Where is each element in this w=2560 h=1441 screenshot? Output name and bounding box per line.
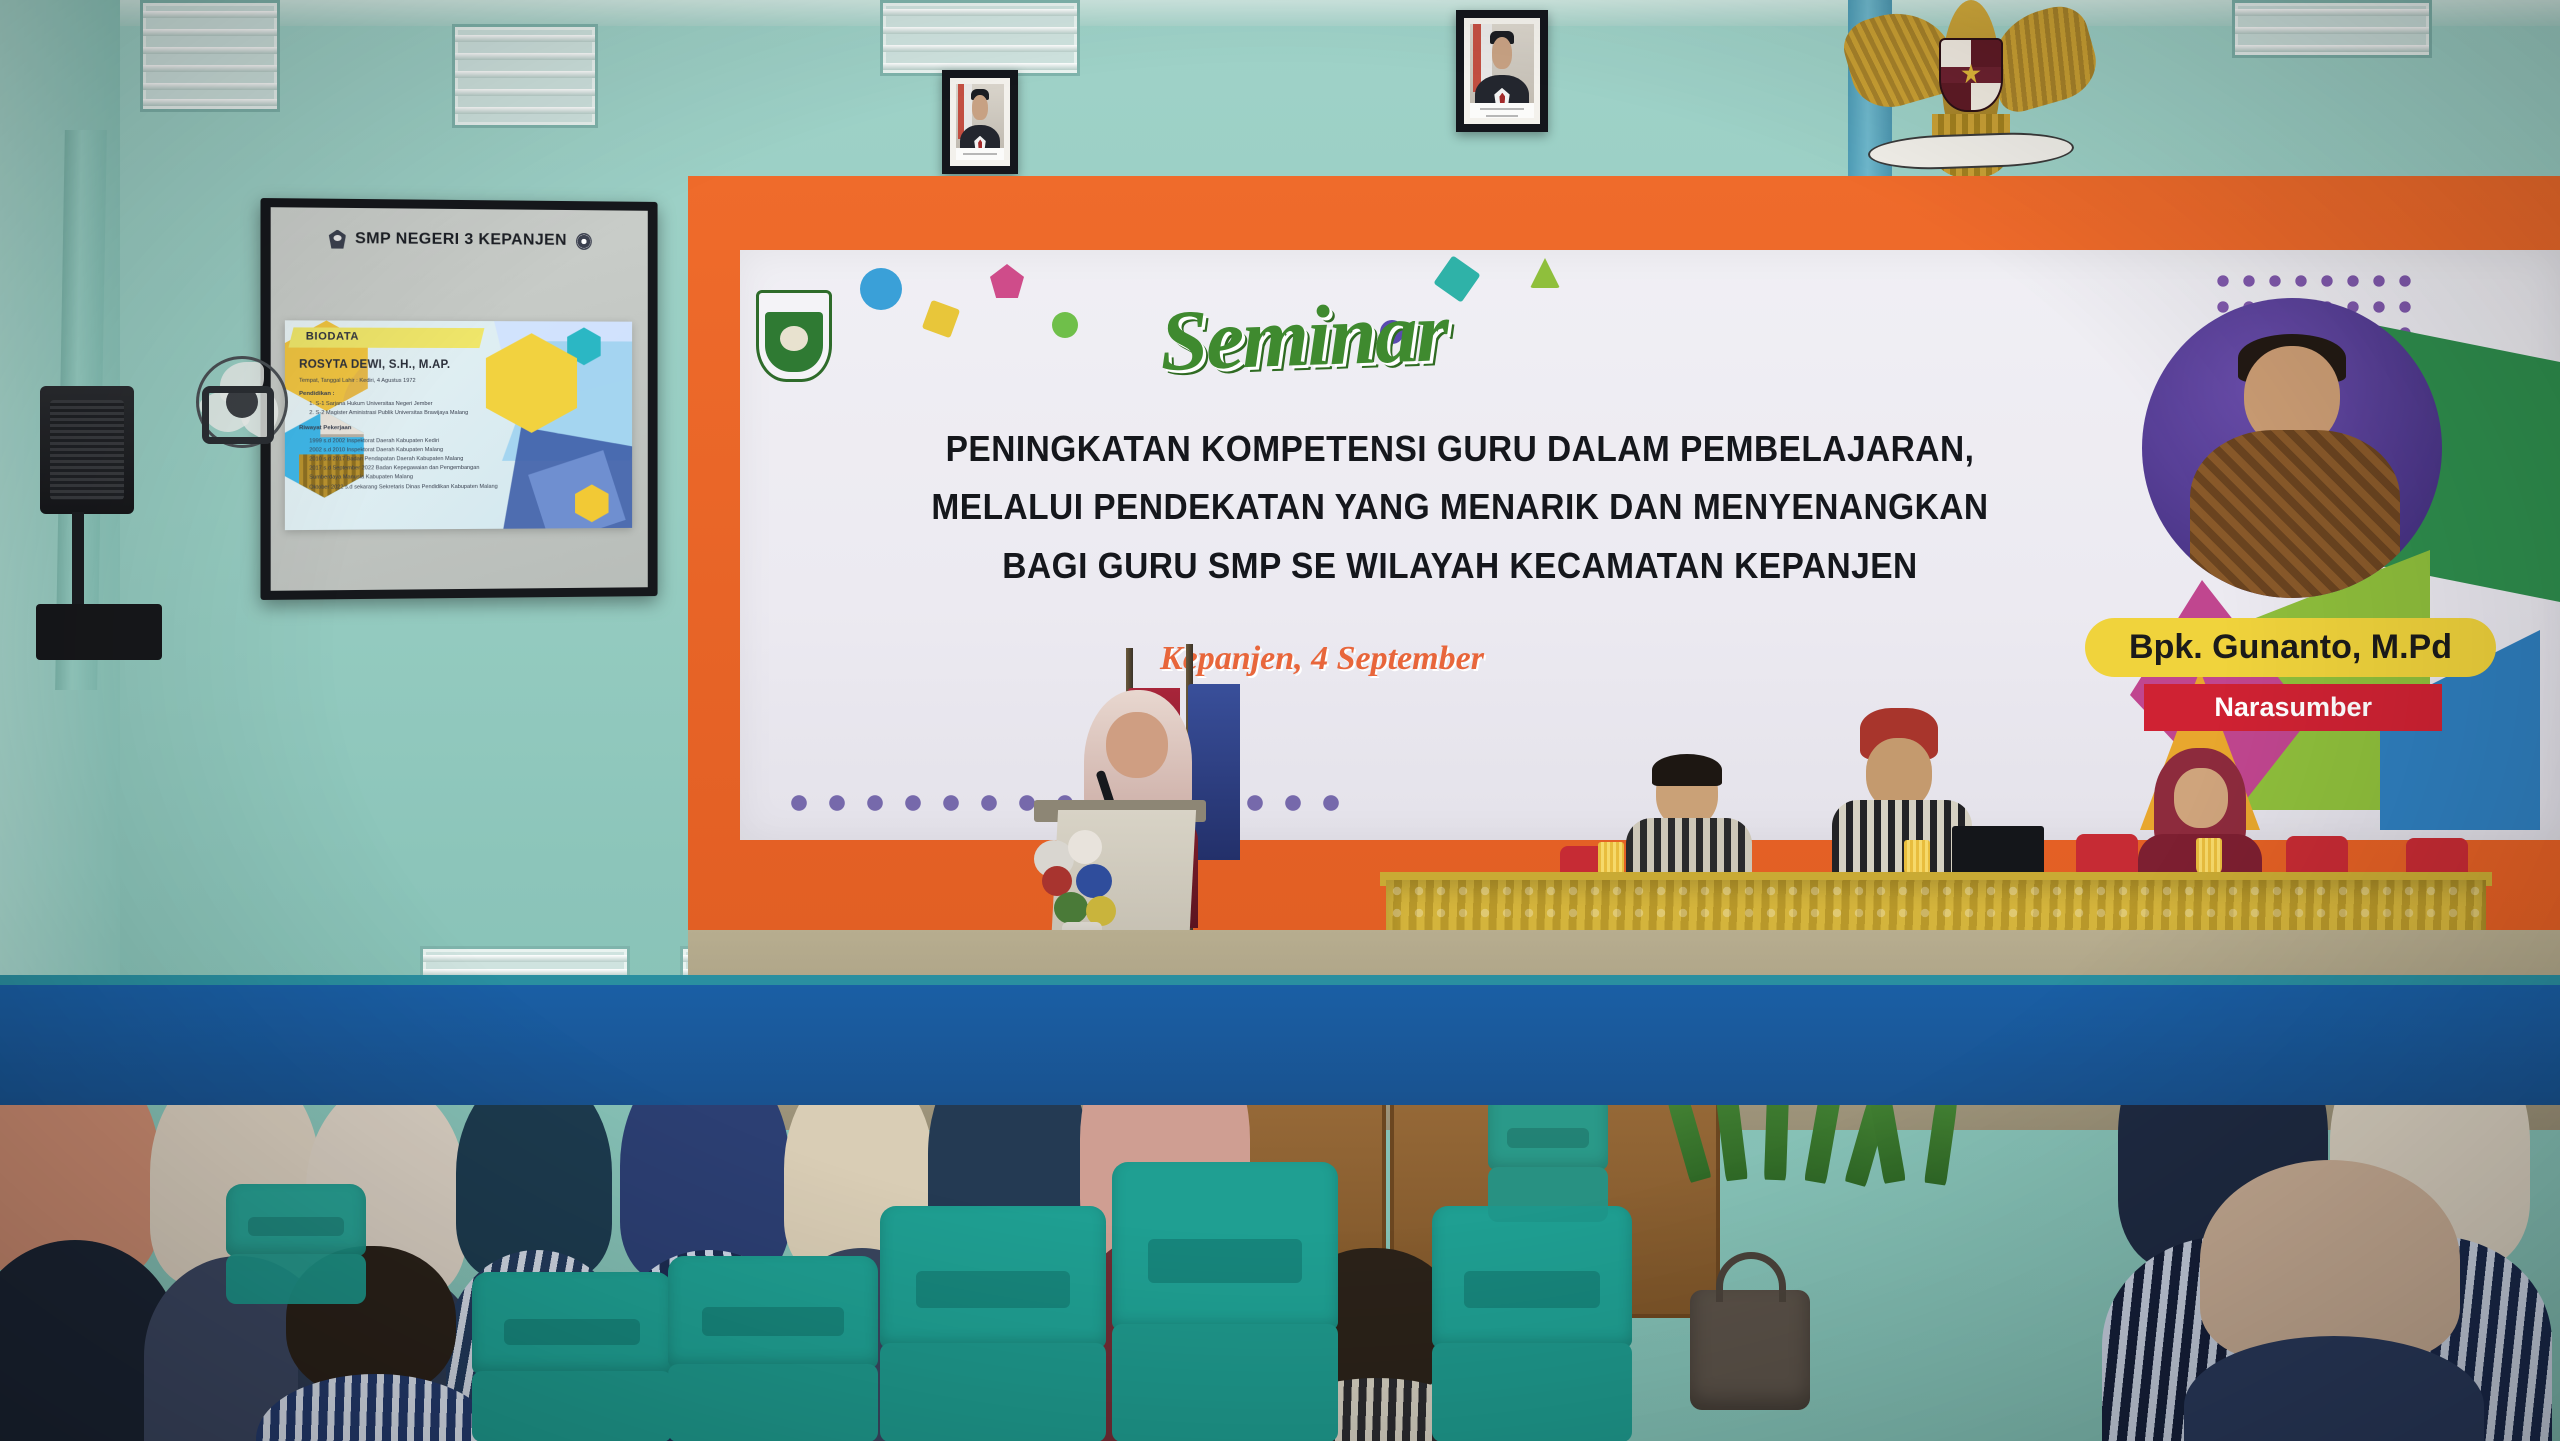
- confetti-3: [990, 264, 1024, 298]
- projection-screen: SMP NEGERI 3 KEPANJEN BIODATA: [260, 198, 657, 600]
- work-item-1: 1999 s.d 2002 Inspektorat Daerah Kabupat…: [309, 437, 500, 446]
- banner-title-line-2: MELALUI PENDEKATAN YANG MENARIK DAN MENY…: [846, 478, 2074, 536]
- banner-title-line-3: BAGI GURU SMP SE WILAYAH KECAMATAN KEPAN…: [846, 537, 2074, 595]
- speaker-stand: [72, 512, 84, 612]
- confetti-4: [1052, 312, 1078, 338]
- head-table-person-1: [1626, 760, 1752, 890]
- speaker-name-badge: Bpk. Gunanto, M.Pd: [2085, 618, 2496, 677]
- banner-date-line: Kepanjen, 4 September: [1160, 640, 1484, 678]
- audience-member-11: [2200, 1160, 2460, 1441]
- birth-line: Tempat, Tanggal Lahir : Kediri, 4 Agustu…: [299, 377, 500, 386]
- chair-7: [1488, 1092, 1608, 1222]
- handbag: [1690, 1290, 1810, 1410]
- education-item-2: 2. S-2 Magister Aministrasi Publik Unive…: [309, 409, 500, 418]
- chair-behind-table-2: [2076, 834, 2138, 874]
- speaker-photo-circle: [2142, 298, 2442, 598]
- window-2: [452, 24, 598, 128]
- window-4: [2232, 0, 2432, 58]
- slide-header: SMP NEGERI 3 KEPANJEN: [271, 207, 648, 272]
- event-banner: Seminar PENINGKATAN KOMPETENSI GURU DALA…: [740, 250, 2560, 840]
- school-seal-icon: [576, 232, 592, 249]
- speaker-base: [36, 604, 162, 660]
- banner-heading: Seminar: [1158, 281, 1448, 391]
- banner-title-line-1: PENINGKATAN KOMPETENSI GURU DALAM PEMBEL…: [846, 420, 2074, 478]
- kabupaten-malang-crest: [756, 290, 832, 382]
- biodata-body: Tempat, Tanggal Lahir : Kediri, 4 Agustu…: [299, 377, 500, 492]
- banner-title-block: PENINGKATAN KOMPETENSI GURU DALAM PEMBEL…: [800, 420, 2120, 595]
- ceiling-band: [0, 0, 2560, 26]
- confetti-6: [1530, 258, 1560, 288]
- education-heading: Pendidikan :: [299, 390, 500, 400]
- chair-2: [668, 1256, 878, 1441]
- confetti-2: [922, 300, 960, 338]
- projection-surface: SMP NEGERI 3 KEPANJEN BIODATA: [271, 207, 648, 591]
- chair-1: [472, 1272, 672, 1441]
- portrait-president: [942, 70, 1018, 174]
- chair-4: [1112, 1162, 1338, 1441]
- window-3: [880, 0, 1080, 76]
- education-item-1: 1. S-1 Sarjana Hukum Universitas Negeri …: [309, 400, 500, 409]
- confetti-1: [860, 268, 902, 310]
- work-item-5: Oktober 2022 s.d sekarang Sekretaris Din…: [309, 482, 500, 492]
- work-item-4: 2017 s.d September 2022 Badan Kepegawaia…: [309, 464, 500, 483]
- seminar-hall-photo: SMP NEGERI 3 KEPANJEN BIODATA: [0, 0, 2560, 1441]
- chair-3: [880, 1206, 1106, 1441]
- biodata-slide: BIODATA ROSYTA DEWI, S.H., M.AP. Tempat,…: [285, 320, 632, 530]
- portrait-vice-president: [1456, 10, 1548, 132]
- fan-bracket: [202, 386, 274, 444]
- garuda-pancasila-icon: [1846, 0, 2096, 194]
- chair-6: [1432, 1206, 1632, 1441]
- pa-speaker: [40, 386, 134, 514]
- window-1: [140, 0, 280, 112]
- chair-behind-table-3: [2286, 836, 2348, 876]
- speaker-role-badge: Narasumber: [2144, 684, 2442, 731]
- head-table-person-2: [1832, 724, 1972, 892]
- audience-member-1: [0, 1050, 160, 1440]
- chair-5: [226, 1184, 366, 1304]
- school-name-label: SMP NEGERI 3 KEPANJEN: [355, 230, 567, 250]
- biodata-tab: BIODATA: [288, 327, 484, 348]
- presenter-name: ROSYTA DEWI, S.H., M.AP.: [299, 359, 450, 371]
- wainscot-blue: [0, 985, 2560, 1105]
- tut-wuri-handayani-icon: [329, 229, 346, 248]
- cup-3: [2196, 838, 2222, 876]
- biodata-tab-label: BIODATA: [292, 327, 483, 343]
- work-heading: Riwayat Pekerjaan: [299, 424, 500, 434]
